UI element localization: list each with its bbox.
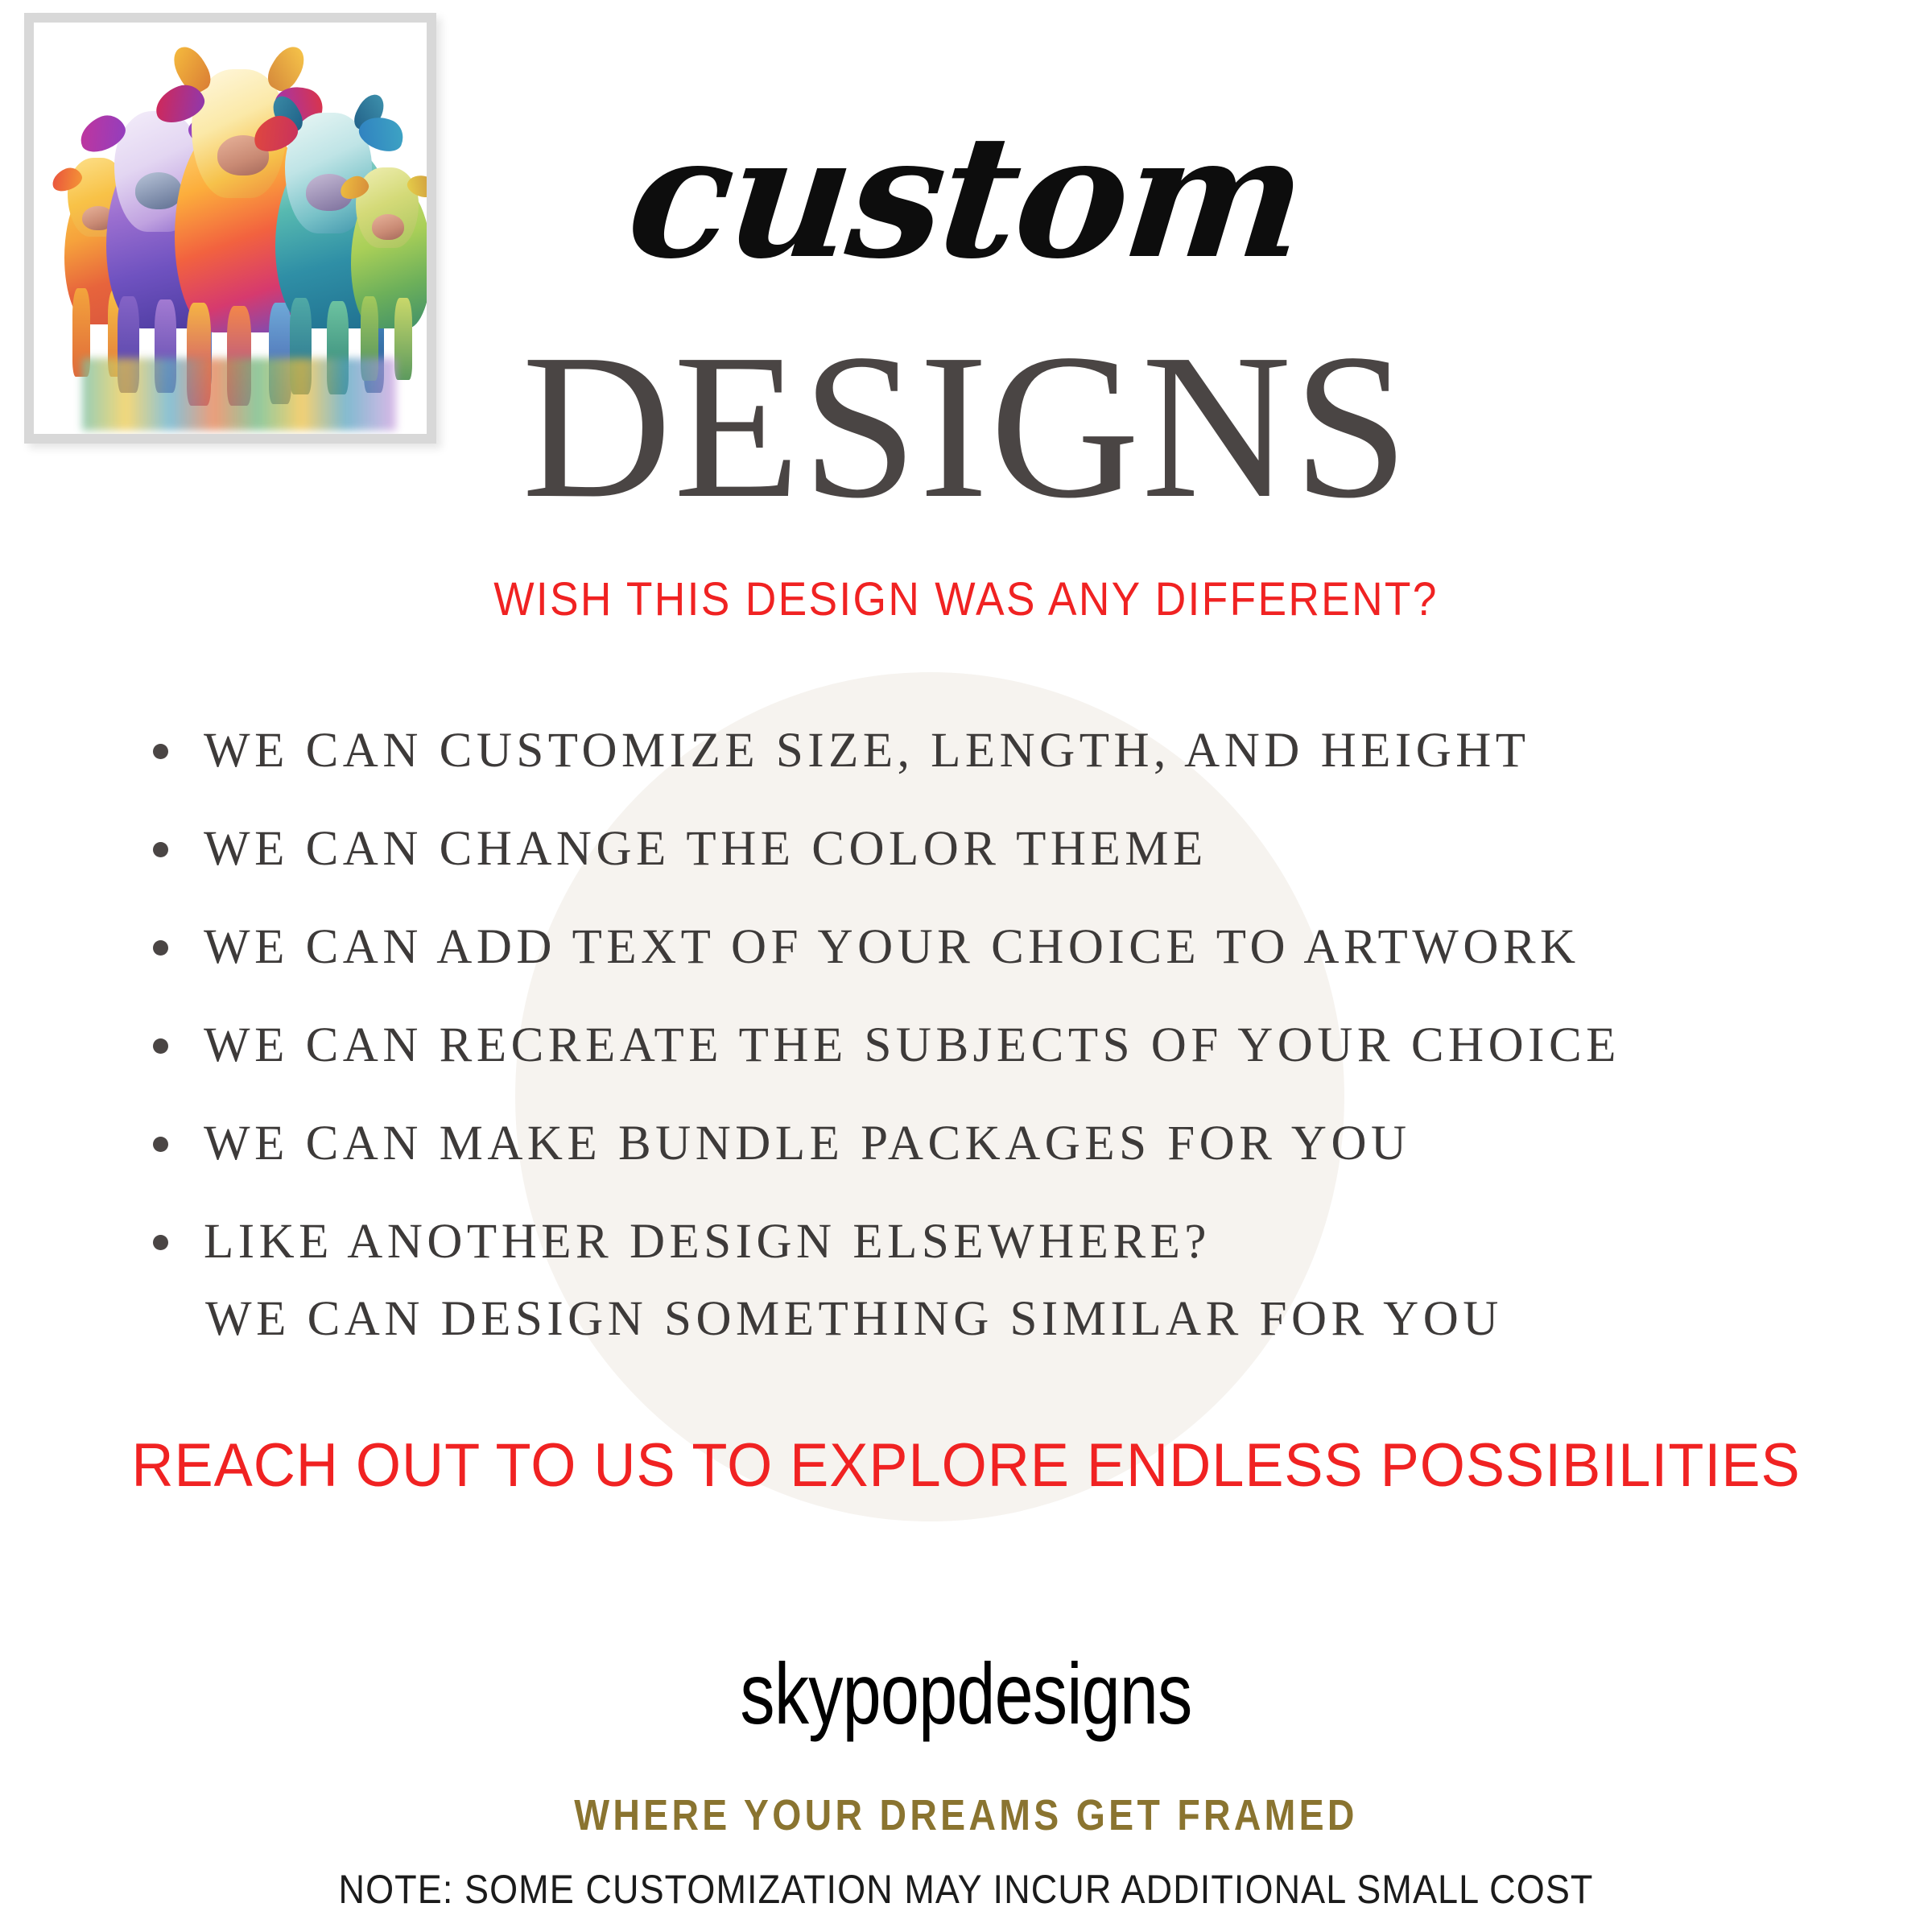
list-item-label: WE CAN CUSTOMIZE SIZE, LENGTH, AND HEIGH… (204, 723, 1530, 779)
bullet-dot-icon (153, 1038, 168, 1054)
list-item-continuation: WE CAN DESIGN SOMETHING SIMILAR FOR YOU (205, 1291, 1503, 1348)
call-to-action-text: REACH OUT TO US TO EXPLORE ENDLESS POSSI… (48, 1435, 1884, 1496)
custom-designs-poster: custom DESIGNS WISH THIS DESIGN WAS ANY … (0, 0, 1932, 1932)
brand-logo-text: skypopdesigns (193, 1650, 1739, 1737)
painted-grass-base (82, 358, 396, 431)
list-item: WE CAN CUSTOMIZE SIZE, LENGTH, AND HEIGH… (153, 702, 1811, 800)
list-item: WE CAN MAKE BUNDLE PACKAGES FOR YOU (153, 1095, 1811, 1193)
list-item: WE CAN ADD TEXT OF YOUR CHOICE TO ARTWOR… (153, 898, 1811, 997)
customization-options-list: WE CAN CUSTOMIZE SIZE, LENGTH, AND HEIGH… (153, 702, 1811, 1291)
artwork-thumbnail-frame[interactable] (24, 13, 436, 444)
brand-tagline: WHERE YOUR DREAMS GET FRAMED (135, 1794, 1797, 1837)
bullet-dot-icon (153, 1235, 168, 1250)
list-item: LIKE ANOTHER DESIGN ELSEWHERE? (153, 1193, 1811, 1291)
bullet-dot-icon (153, 842, 168, 857)
subtitle-question: WISH THIS DESIGN WAS ANY DIFFERENT? (77, 576, 1855, 623)
list-item-label: WE CAN ADD TEXT OF YOUR CHOICE TO ARTWOR… (204, 919, 1580, 976)
list-item-label: WE CAN MAKE BUNDLE PACKAGES FOR YOU (204, 1116, 1411, 1172)
list-item: WE CAN RECREATE THE SUBJECTS OF YOUR CHO… (153, 997, 1811, 1095)
list-item: WE CAN CHANGE THE COLOR THEME (153, 800, 1811, 898)
bullet-dot-icon (153, 744, 168, 759)
list-item-label: WE CAN RECREATE THE SUBJECTS OF YOUR CHO… (204, 1018, 1620, 1074)
bullet-dot-icon (153, 1137, 168, 1152)
footer-note: NOTE: SOME CUSTOMIZATION MAY INCUR ADDIT… (97, 1869, 1835, 1909)
cow-painting-canvas (34, 23, 427, 434)
bullet-dot-icon (153, 940, 168, 956)
list-item-label: LIKE ANOTHER DESIGN ELSEWHERE? (204, 1214, 1211, 1270)
list-item-label: WE CAN CHANGE THE COLOR THEME (204, 821, 1207, 877)
